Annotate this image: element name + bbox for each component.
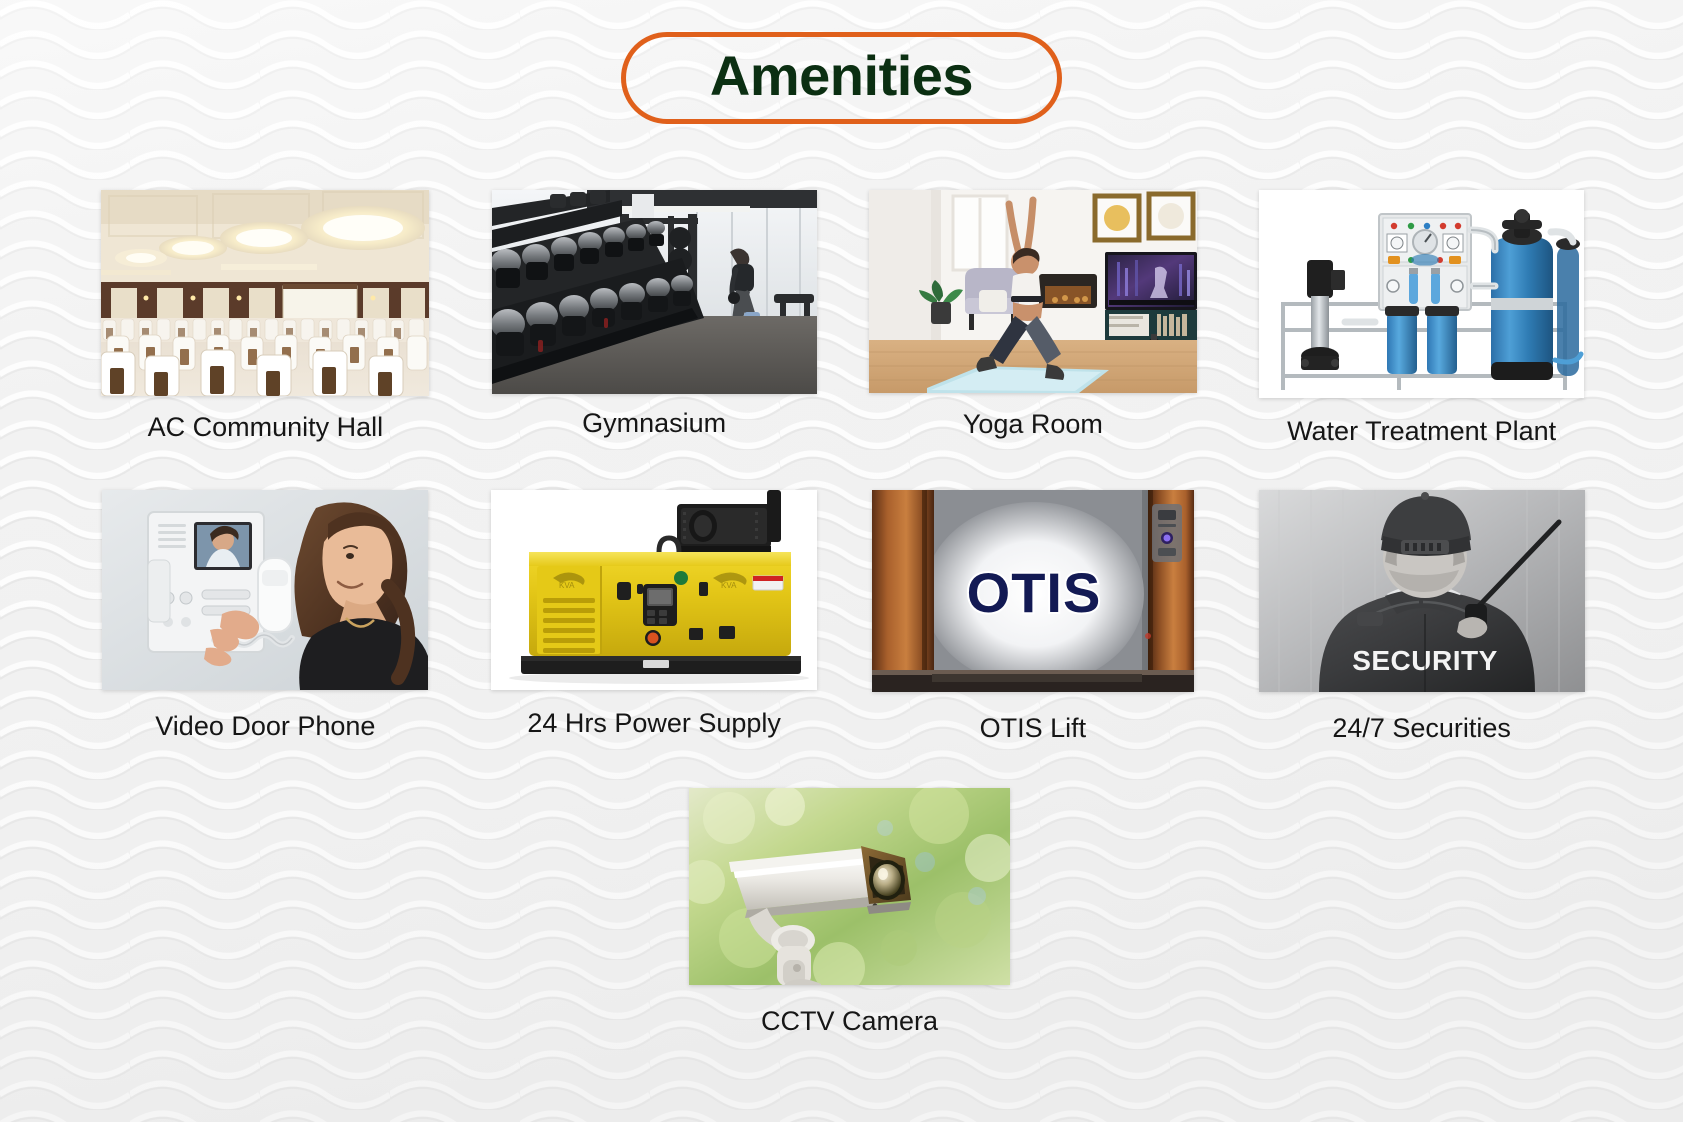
- amenities-row: Video Door Phone: [78, 490, 1605, 780]
- amenity-card-gymnasium[interactable]: Gymnasium: [471, 190, 838, 439]
- amenity-card-water-treatment-plant[interactable]: Water Treatment Plant: [1238, 190, 1605, 447]
- page-title: Amenities: [710, 48, 973, 104]
- page-title-container: Amenities: [0, 32, 1683, 124]
- amenity-card-power-supply[interactable]: KVA KVA: [471, 490, 838, 739]
- security-guard-image: SECURITY: [1259, 490, 1585, 692]
- amenity-label: 24/7 Securities: [1332, 713, 1511, 744]
- amenity-card-otis-lift[interactable]: OTIS OTIS Lift: [850, 490, 1217, 744]
- cctv-camera-image: [689, 788, 1010, 985]
- otis-elevator-image: OTIS: [872, 490, 1194, 692]
- banquet-hall-image: [101, 190, 429, 396]
- amenity-label: Video Door Phone: [155, 711, 375, 742]
- amenity-card-cctv-camera[interactable]: CCTV Camera: [659, 788, 1041, 1037]
- amenity-label: Water Treatment Plant: [1287, 416, 1556, 447]
- amenity-label: Gymnasium: [582, 408, 726, 439]
- diesel-generator-image: KVA KVA: [491, 490, 817, 690]
- amenities-slide: Amenities: [0, 0, 1683, 1122]
- amenity-label: Yoga Room: [963, 409, 1103, 440]
- svg-text:KVA: KVA: [559, 581, 575, 590]
- amenity-card-yoga-room[interactable]: Yoga Room: [850, 190, 1217, 440]
- amenities-grid: AC Community Hall: [78, 190, 1605, 1037]
- amenity-label: OTIS Lift: [980, 713, 1087, 744]
- amenity-card-securities[interactable]: SECURITY 24/7 Securities: [1238, 490, 1605, 744]
- water-treatment-plant-image: [1259, 190, 1584, 398]
- yoga-living-room-image: [869, 190, 1197, 393]
- svg-text:KVA: KVA: [721, 581, 737, 590]
- amenity-card-ac-community-hall[interactable]: AC Community Hall: [82, 190, 449, 443]
- otis-logo-text: OTIS: [967, 561, 1102, 624]
- amenities-row: CCTV Camera: [78, 780, 1605, 1037]
- amenity-label: CCTV Camera: [761, 1006, 938, 1037]
- amenities-row: AC Community Hall: [78, 190, 1605, 490]
- title-pill-border: Amenities: [621, 32, 1062, 124]
- amenity-card-video-door-phone[interactable]: Video Door Phone: [82, 490, 449, 742]
- amenity-label: 24 Hrs Power Supply: [527, 708, 781, 739]
- gym-dumbbell-rack-image: [492, 190, 817, 394]
- amenity-label: AC Community Hall: [148, 412, 384, 443]
- video-door-phone-image: [102, 490, 428, 690]
